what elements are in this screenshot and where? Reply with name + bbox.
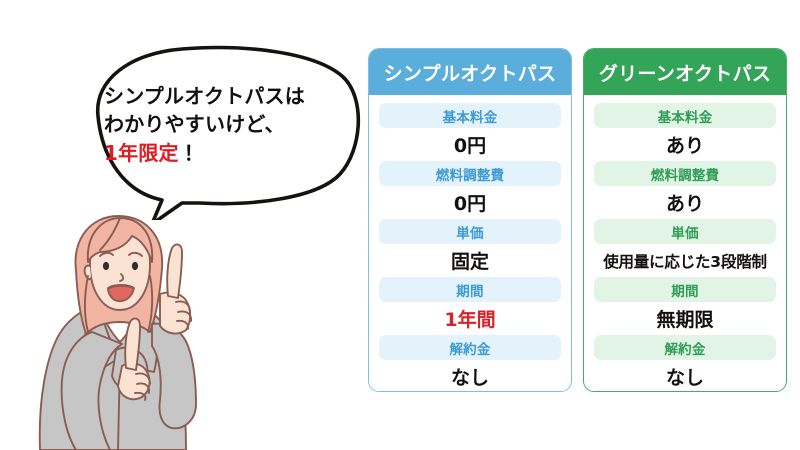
speech-bubble-text: シンプルオクトパスは わかりやすいけど、 1年限定！ [104,82,340,167]
row-label-basic-fee: 基本料金 [379,103,561,128]
eye-left [103,262,109,270]
card-title-simple: シンプルオクトパス [369,49,571,95]
bubble-line-2: わかりやすいけど、 [104,110,340,138]
speech-bubble: シンプルオクトパスは わかりやすいけど、 1年限定！ [78,40,368,220]
bubble-line-1: シンプルオクトパスは [104,82,340,110]
bubble-line-3-accent: 1年限定 [104,141,179,165]
index-finger-right [167,245,182,298]
row-label-unit-price: 単価 [594,219,776,244]
bubble-line-3: 1年限定！ [104,139,340,167]
row-value-unit-price: 使用量に応じた3段階制 [594,244,776,277]
row-label-cancellation-fee: 解約金 [594,335,776,360]
card-body-green: 基本料金 あり 燃料調整費 あり 単価 使用量に応じた3段階制 期間 無期限 解… [584,95,786,392]
character-illustration [0,198,240,450]
row-label-unit-price: 単価 [379,219,561,244]
bubble-line-3-mark: ！ [179,141,199,165]
row-value-fuel-adjustment: あり [594,186,776,219]
row-value-cancellation-fee: なし [594,360,776,392]
row-value-unit-price: 固定 [379,244,561,277]
plan-card-green[interactable]: グリーンオクトパス 基本料金 あり 燃料調整費 あり 単価 使用量に応じた3段階… [583,48,787,392]
row-value-period: 無期限 [594,302,776,335]
plan-card-simple[interactable]: シンプルオクトパス 基本料金 0円 燃料調整費 0円 単価 固定 期間 1年間 … [368,48,572,392]
row-label-fuel-adjustment: 燃料調整費 [379,161,561,186]
row-value-fuel-adjustment: 0円 [379,186,561,219]
row-value-basic-fee: 0円 [379,128,561,161]
row-label-basic-fee: 基本料金 [594,103,776,128]
row-label-period: 期間 [594,277,776,302]
row-label-period: 期間 [379,277,561,302]
row-value-period: 1年間 [379,302,561,335]
card-body-simple: 基本料金 0円 燃料調整費 0円 単価 固定 期間 1年間 解約金 なし [369,95,571,392]
row-value-cancellation-fee: なし [379,360,561,392]
row-label-fuel-adjustment: 燃料調整費 [594,161,776,186]
eye-right [132,262,138,270]
woman-pointing-illustration [0,198,240,450]
row-label-cancellation-fee: 解約金 [379,335,561,360]
card-title-green: グリーンオクトパス [584,49,786,95]
row-value-basic-fee: あり [594,128,776,161]
